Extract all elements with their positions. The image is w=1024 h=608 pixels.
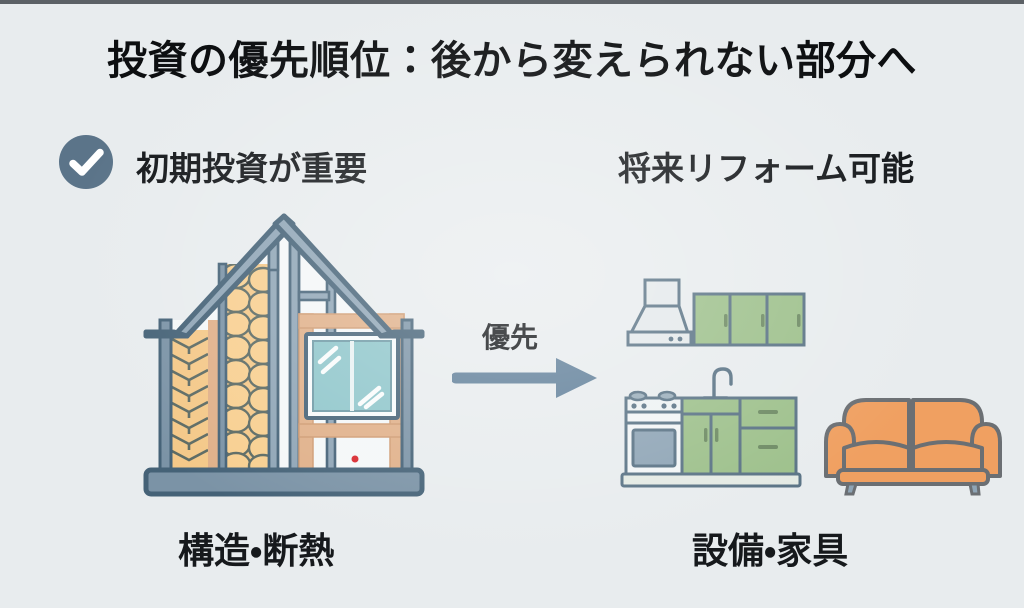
kitchen-lower-unit [612, 362, 812, 492]
right-column-heading: 将来リフォーム可能 [618, 142, 914, 190]
arrow-label: 優先 [482, 316, 538, 356]
accent-dot [352, 456, 359, 463]
sofa-icon [820, 386, 1006, 496]
stove-oven-icon [626, 392, 682, 474]
drawer-cabinet-icon [740, 398, 796, 474]
check-circle-icon [57, 133, 115, 191]
sink-cabinet-icon [682, 398, 740, 474]
slide-canvas: 投資の優先順位：後から変えられない部分へ 初期投資が重要 将来リフォーム可能 [0, 0, 1024, 608]
top-edge-bar [0, 0, 1024, 4]
sink-faucet-icon [704, 369, 731, 398]
page-title: 投資の優先順位：後から変えられない部分へ [0, 28, 1024, 86]
left-column-heading: 初期投資が重要 [136, 142, 367, 190]
upper-cabinets-icon [694, 294, 804, 345]
house-cross-section-icon [124, 202, 444, 512]
arrow-right-icon [452, 352, 612, 404]
kitchen-upper-unit [618, 276, 808, 358]
right-column-caption: 設備・家具 [692, 522, 848, 574]
left-column-caption: 構造・断熱 [178, 522, 334, 574]
range-hood-icon [628, 280, 691, 345]
